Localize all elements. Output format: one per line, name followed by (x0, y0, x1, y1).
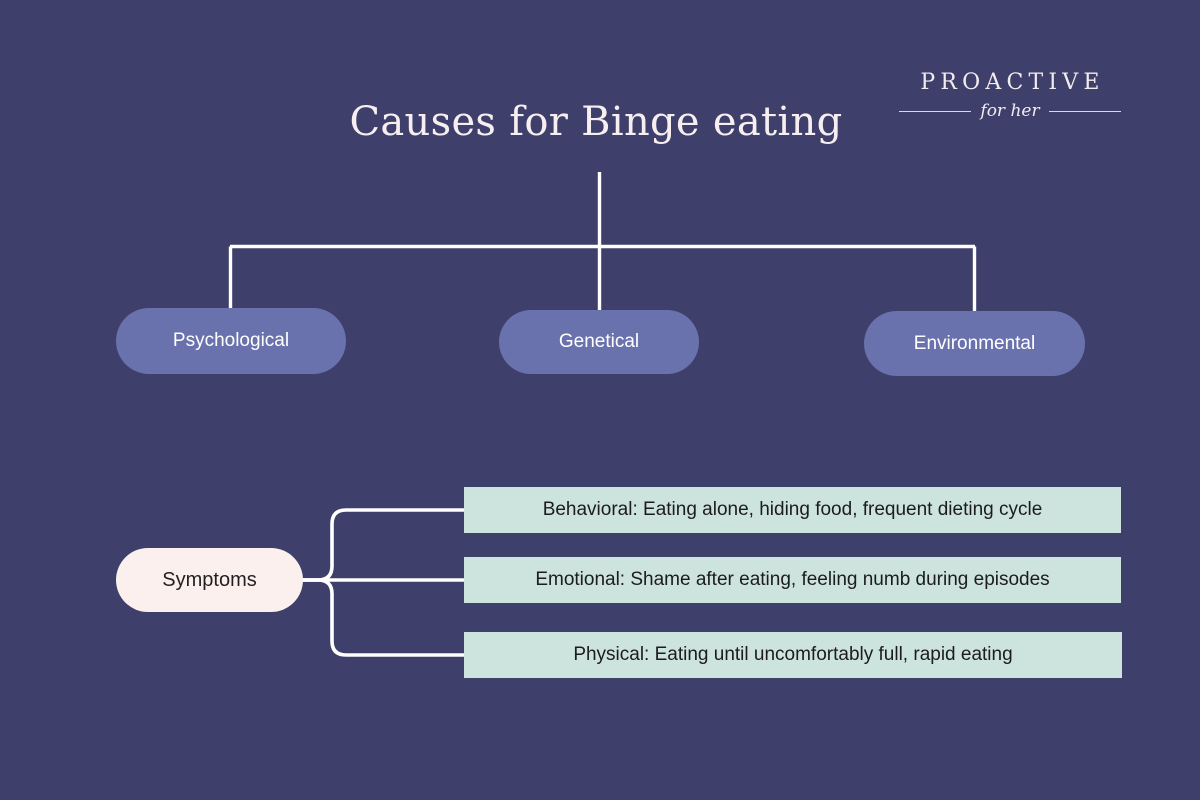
symptom-box-behavioral[interactable]: Behavioral: Eating alone, hiding food, f… (464, 487, 1121, 533)
cause-node-label: Genetical (559, 331, 639, 353)
symptom-box-label: Emotional: Shame after eating, feeling n… (535, 569, 1049, 591)
symptoms-root-node[interactable]: Symptoms (116, 548, 303, 612)
brand-name: PROACTIVE (899, 72, 1121, 94)
cause-node-psychological[interactable]: Psychological (116, 308, 346, 374)
symptom-box-label: Physical: Eating until uncomfortably ful… (573, 644, 1012, 666)
cause-node-label: Psychological (173, 330, 289, 352)
brand-tagline: for her (980, 103, 1039, 120)
brand-rule-left (899, 111, 971, 112)
infographic-canvas: Causes for Binge eating PROACTIVE for he… (0, 0, 1200, 800)
cause-node-environmental[interactable]: Environmental (864, 311, 1085, 376)
cause-node-label: Environmental (914, 333, 1035, 355)
brand-logo: PROACTIVE for her (899, 72, 1121, 120)
brand-rule-right (1049, 111, 1121, 112)
connector-symptom-branch-0 (303, 510, 464, 580)
symptom-box-label: Behavioral: Eating alone, hiding food, f… (543, 499, 1043, 521)
symptom-box-physical[interactable]: Physical: Eating until uncomfortably ful… (464, 632, 1122, 678)
symptom-box-emotional[interactable]: Emotional: Shame after eating, feeling n… (464, 557, 1121, 603)
brand-tagline-row: for her (899, 103, 1121, 120)
cause-node-genetical[interactable]: Genetical (499, 310, 699, 374)
symptoms-root-label: Symptoms (162, 569, 256, 592)
connector-symptom-branch-2 (303, 580, 464, 655)
